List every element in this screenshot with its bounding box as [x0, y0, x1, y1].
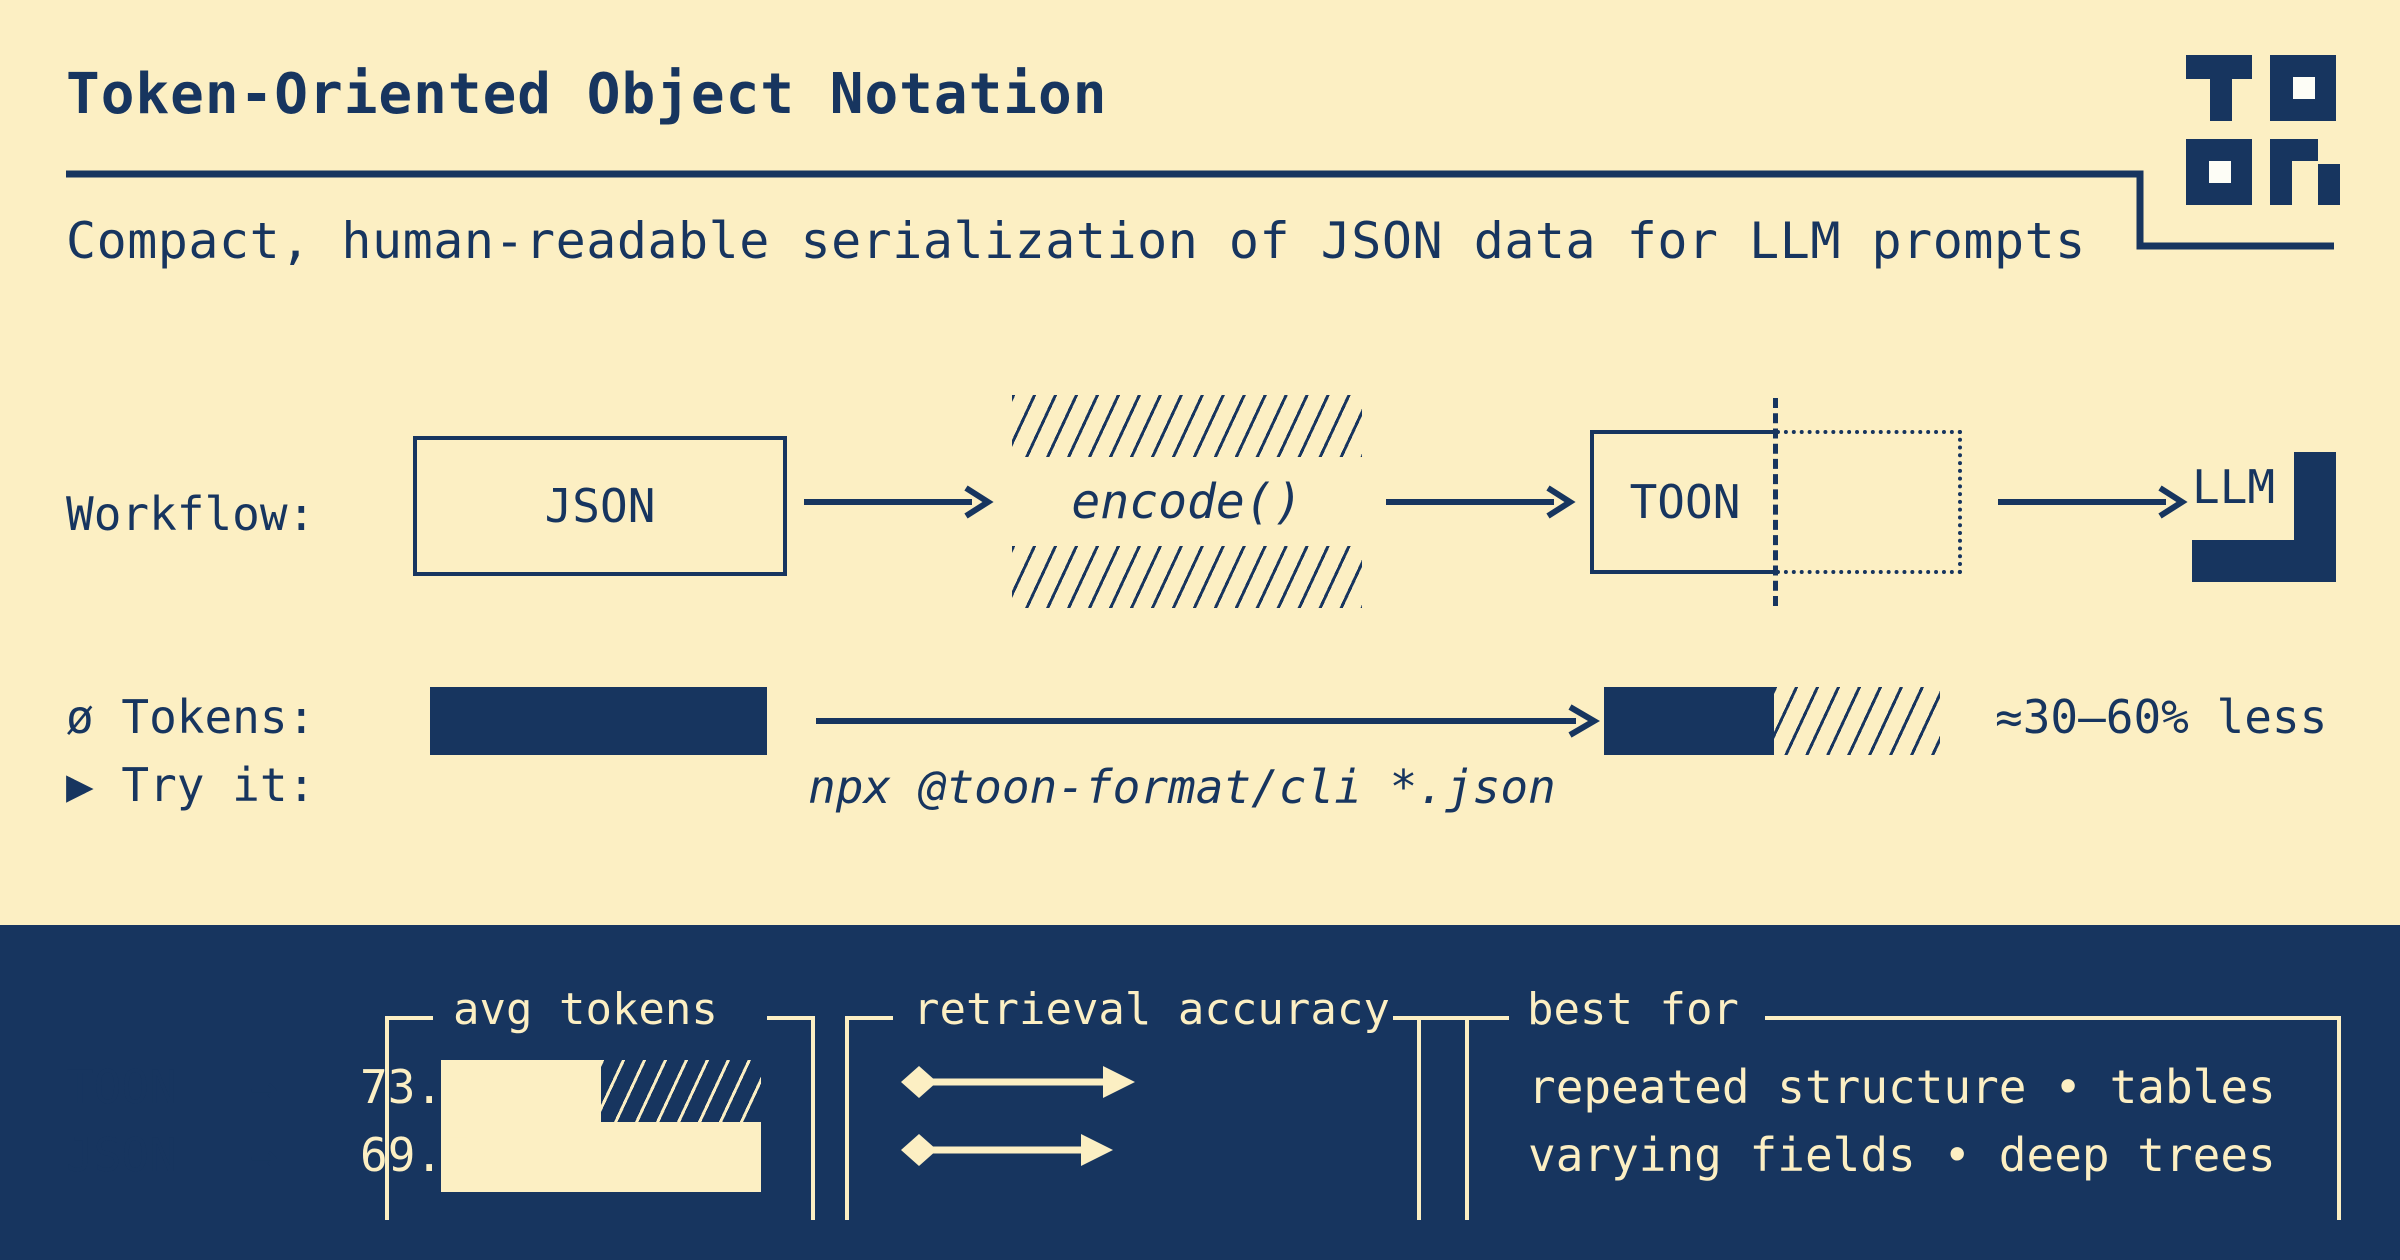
- retrieval-accuracy-value-toon: 73.9%: [360, 1060, 498, 1114]
- tokens-bar-toon-savings: [1774, 687, 1940, 755]
- retrieval-border-right: [1417, 1016, 1421, 1220]
- logo-glyph-t-icon: [2186, 55, 2252, 121]
- try-it-label: ▶ Try it:: [66, 758, 315, 812]
- toon-split-divider: [1773, 398, 1778, 606]
- footer-row-label-json: JSON: [66, 1128, 177, 1182]
- poster-canvas: Token-Oriented Object Notation Compact, …: [0, 0, 2400, 1260]
- encode-hatch-bottom: [1012, 546, 1362, 608]
- best-for-line-json: varying fields • deep trees: [1528, 1128, 2276, 1182]
- workflow-label: Workflow:: [66, 487, 315, 541]
- page-subtitle: Compact, human-readable serialization of…: [66, 212, 2086, 270]
- workflow-step-toon-label: TOON: [1630, 475, 1741, 529]
- retrieval-arrow-json-icon: [897, 1120, 1147, 1180]
- footer-row-arrow-json-icon: →: [250, 1128, 278, 1182]
- try-it-marker-icon: ▶: [66, 758, 94, 812]
- footer-row-arrow-toon-icon: →: [250, 1060, 278, 1114]
- encode-hatch-top: [1012, 395, 1362, 457]
- best-for-title: best for: [1527, 984, 1739, 1035]
- avg-tokens-title: avg tokens: [453, 984, 718, 1035]
- best-for-border-top-left: [1465, 1016, 1509, 1020]
- retrieval-accuracy-title: retrieval accuracy: [913, 984, 1390, 1035]
- workflow-step-toon: TOON: [1590, 430, 1962, 574]
- group-retrieval-accuracy: retrieval accuracy: [845, 1002, 1465, 1220]
- toon-logo: [2186, 55, 2336, 205]
- tokens-comparison-arrow-icon: [812, 696, 1602, 746]
- workflow-step-encode: encode(): [1012, 395, 1362, 608]
- page-title: Token-Oriented Object Notation: [66, 62, 1107, 127]
- tokens-bar-toon-solid: [1604, 687, 1774, 755]
- avg-tokens-border-top-left: [385, 1016, 433, 1020]
- logo-glyph-o2-icon: [2186, 139, 2252, 205]
- retrieval-arrow-toon-icon: [897, 1052, 1147, 1112]
- avg-tokens-border-top-right: [767, 1016, 815, 1020]
- retrieval-border-left: [845, 1016, 849, 1220]
- avg-tokens-border-left: [385, 1016, 389, 1220]
- avg-tokens-border-right: [811, 1016, 815, 1220]
- workflow-arrow-1-icon: [800, 478, 996, 526]
- logo-glyph-n-icon: [2270, 139, 2336, 205]
- best-for-border-top-right: [1765, 1016, 2341, 1020]
- best-for-border-left: [1465, 1016, 1469, 1220]
- footer-row-label-toon: TOON: [66, 1060, 177, 1114]
- avg-tokens-bar-toon-hatch: [601, 1060, 761, 1122]
- workflow-arrow-2-icon: [1382, 478, 1578, 526]
- workflow-step-llm: LLM: [2192, 452, 2336, 582]
- tokens-bar-json: [430, 687, 767, 755]
- encode-label: encode(): [1012, 457, 1362, 546]
- try-it-text: Try it:: [121, 758, 315, 812]
- toon-box-solid: TOON: [1590, 430, 1776, 574]
- retrieval-accuracy-value-json: 69.7%: [360, 1128, 498, 1182]
- tokens-label: ø Tokens:: [66, 690, 315, 744]
- workflow-step-llm-label: LLM: [2192, 460, 2275, 514]
- retrieval-border-top-left: [845, 1016, 893, 1020]
- best-for-border-right: [2337, 1016, 2341, 1220]
- llm-bracket-horizontal: [2192, 540, 2336, 582]
- retrieval-border-top-right: [1393, 1016, 1465, 1020]
- workflow-arrow-3-icon: [1994, 478, 2190, 526]
- best-for-line-toon: repeated structure • tables: [1528, 1060, 2276, 1114]
- workflow-step-json: JSON: [413, 436, 787, 576]
- tokens-savings-label: ≈30–60% less: [1995, 690, 2327, 744]
- workflow-step-json-label: JSON: [545, 479, 656, 533]
- cli-command[interactable]: npx @toon-format/cli *.json: [808, 760, 1556, 814]
- logo-glyph-o-icon: [2270, 55, 2336, 121]
- toon-box-dotted: [1776, 430, 1962, 574]
